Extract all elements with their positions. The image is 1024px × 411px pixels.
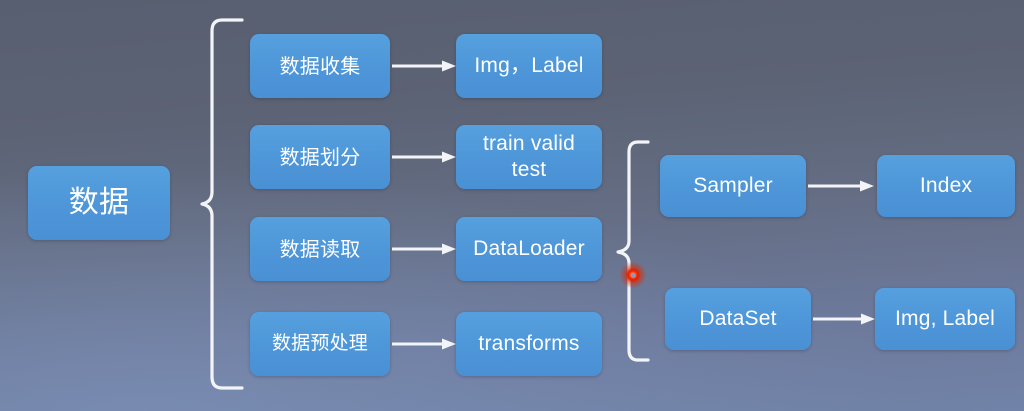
node-dataset[interactable]: DataSet [665,288,811,350]
node-output-img-label-2[interactable]: Img, Label [875,288,1015,350]
node-output-dataloader[interactable]: DataLoader [456,217,602,281]
node-index[interactable]: Index [877,155,1015,217]
arrow-dataset-to-img-label [813,312,875,326]
train-valid-line: train valid [483,131,575,157]
node-stage-read[interactable]: 数据读取 [250,217,390,281]
arrow-read-to-dataloader [392,242,456,256]
node-output-train-valid-test[interactable]: train valid test [456,125,602,189]
arrow-collect-to-img-label [392,59,456,73]
arrow-preprocess-to-transforms [392,337,456,351]
test-line: test [512,157,547,183]
node-sampler[interactable]: Sampler [660,155,806,217]
node-output-transforms[interactable]: transforms [456,312,602,376]
arrow-split-to-train-valid-test [392,150,456,164]
node-stage-preprocess[interactable]: 数据预处理 [250,312,390,376]
node-stage-split[interactable]: 数据划分 [250,125,390,189]
brace-root-to-stages [198,16,246,392]
node-stage-collect[interactable]: 数据收集 [250,34,390,98]
node-root-data[interactable]: 数据 [28,166,170,240]
node-output-img-label[interactable]: Img，Label [456,34,602,98]
diagram-canvas: 数据 数据收集 Img，Label 数据划分 train valid test … [0,0,1024,411]
arrow-sampler-to-index [808,179,874,193]
brace-dataloader-to-branches [612,138,652,364]
